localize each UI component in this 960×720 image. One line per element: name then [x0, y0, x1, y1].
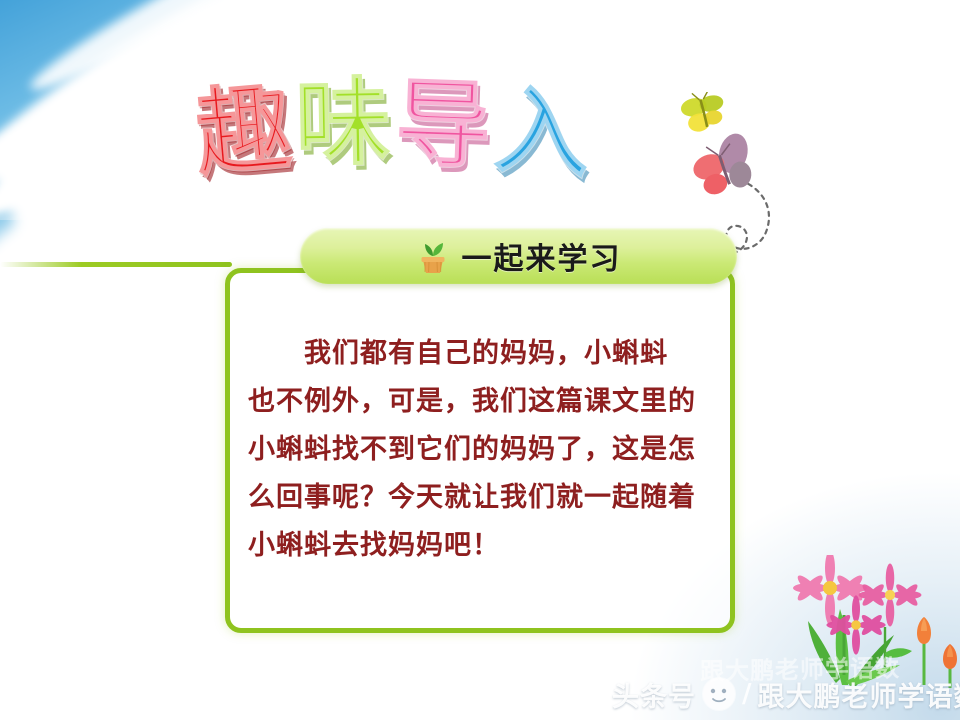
title-char-2: 味	[294, 74, 392, 172]
footer-watermark: 头条号 / 跟大鹏老师学语数	[612, 672, 960, 716]
title-char-1: 趣	[191, 79, 295, 183]
butterfly-yellow-icon	[678, 92, 728, 134]
footer-separator: /	[742, 679, 752, 709]
footer-source-label: 头条号	[612, 675, 696, 714]
daisy-flower-3	[826, 595, 885, 654]
lesson-paragraph: 我们都有自己的妈妈，小蝌蚪 也不例外，可是，我们这篇课文里的 小蝌蚪找不到它们的…	[248, 330, 716, 570]
paragraph-line-2: 也不例外，可是，我们这篇课文里的	[248, 378, 716, 426]
title-char-3: 导	[393, 75, 492, 174]
title-char-4: 入	[491, 82, 593, 184]
footer-account-name: 跟大鹏老师学语数	[758, 675, 960, 714]
paragraph-line-4: 么回事呢？今天就让我们就一起随着	[248, 474, 716, 522]
paragraph-line-3: 小蝌蚪找不到它们的妈妈了，这是怎	[248, 426, 716, 474]
avatar-face-icon	[702, 677, 736, 711]
section-banner-label: 一起来学习	[462, 234, 622, 278]
slide-canvas: 趣 味 导 入	[0, 0, 960, 720]
potted-plant-icon	[416, 238, 450, 274]
butterfly-pink-icon	[686, 127, 759, 199]
paragraph-line-1: 我们都有自己的妈妈，小蝌蚪	[248, 330, 716, 378]
frame-left-connector	[0, 262, 232, 267]
section-banner: 一起来学习	[300, 228, 737, 284]
paragraph-line-5: 小蝌蚪去找妈妈吧！	[248, 522, 716, 570]
account-avatar	[702, 677, 736, 711]
page-title: 趣 味 导 入	[195, 62, 715, 192]
